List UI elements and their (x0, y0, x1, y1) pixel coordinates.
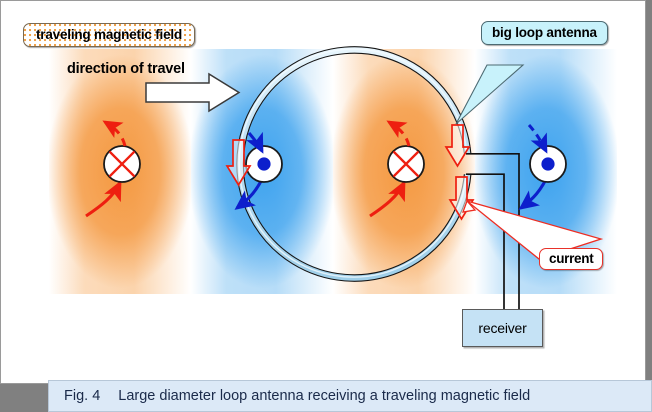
receiver-box[interactable]: receiver (462, 309, 543, 347)
diagram-canvas: traveling magnetic field direction of tr… (0, 0, 646, 384)
direction-of-travel-label: direction of travel (67, 61, 185, 77)
field-symbol-dot-circle-2 (521, 125, 566, 208)
diagram-artwork (1, 1, 646, 384)
figure-number: Fig. 4 (64, 388, 100, 404)
field-symbol-x-circle-1 (86, 122, 140, 216)
receiver-label: receiver (478, 320, 526, 336)
figure-caption: Fig. 4 Large diameter loop antenna recei… (48, 380, 652, 412)
field-symbol-x-circle-2 (370, 122, 424, 216)
current-label: current (539, 248, 603, 270)
traveling-magnetic-field-label: traveling magnetic field (23, 23, 195, 47)
direction-of-travel-arrow (146, 74, 239, 111)
figure-root: traveling magnetic field direction of tr… (0, 0, 652, 412)
big-loop-antenna-label: big loop antenna (481, 21, 608, 45)
figure-caption-text: Large diameter loop antenna receiving a … (118, 388, 530, 404)
big-loop-antenna-callout-leader (456, 65, 523, 124)
